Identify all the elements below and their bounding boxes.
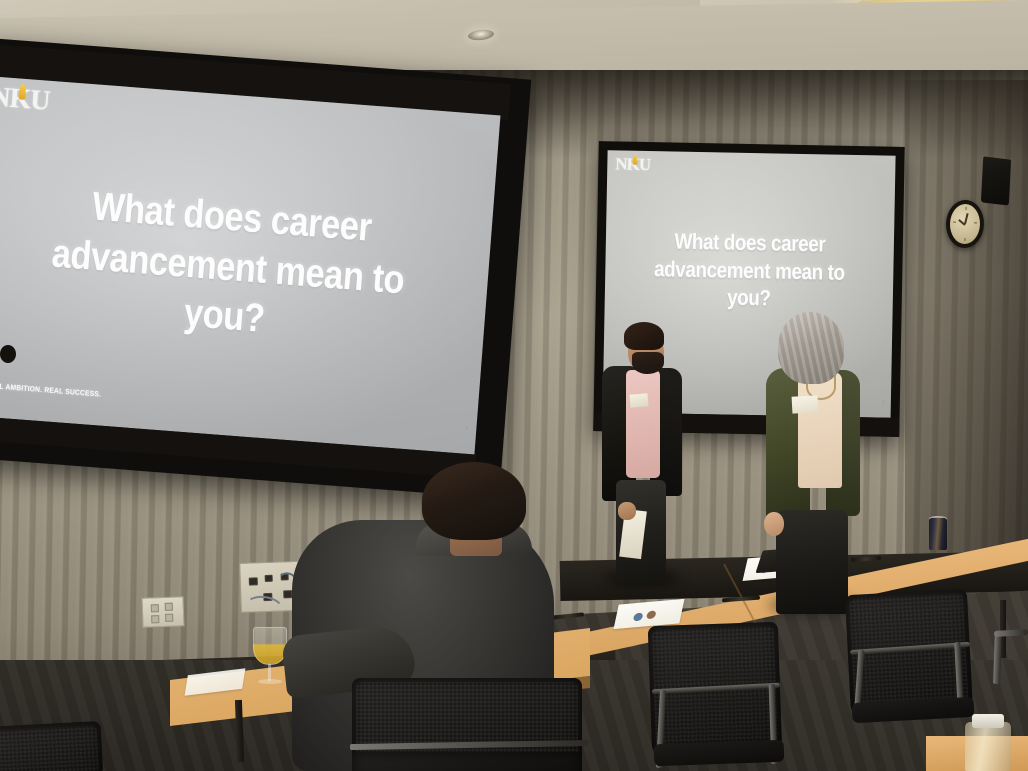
chair-seat[interactable] (654, 740, 785, 767)
hair (422, 462, 526, 540)
slide-title-line-1: What does career (633, 227, 867, 259)
data-jack-plate (141, 596, 184, 627)
name-badge (629, 393, 648, 408)
skirt (776, 510, 848, 614)
slide-title-line-2: advancement mean to (632, 254, 866, 286)
water-bottle-cap (972, 714, 1004, 728)
name-badge (792, 395, 819, 413)
hair (624, 322, 664, 350)
microphone-fixture-icon (0, 345, 16, 363)
water-bottle[interactable] (965, 722, 1011, 771)
presenter-male (602, 322, 686, 590)
office-chair[interactable] (0, 721, 103, 771)
dress-shirt (626, 370, 660, 478)
hand (764, 512, 784, 536)
main-projection-screen: NKU What does career advancement mean to… (0, 38, 531, 499)
main-slide-surface: NKU What does career advancement mean to… (0, 76, 500, 455)
hand (618, 502, 636, 520)
slide-title-line-3: you? (632, 282, 866, 314)
hair (778, 312, 844, 384)
wall-speaker-icon (981, 156, 1011, 205)
nku-flame-icon (632, 155, 637, 165)
wine-glass[interactable] (253, 627, 287, 665)
clock-face (949, 203, 980, 244)
office-chair[interactable] (352, 752, 582, 771)
slide-page-number: 5 (465, 426, 468, 432)
wine-glass-stem (268, 663, 271, 681)
conference-room-photo: NKU What does career advancement mean to… (0, 0, 1028, 771)
nku-logo: NKU (615, 156, 650, 172)
slide-title: What does career advancement mean to you… (632, 227, 867, 315)
slide-page-number: 5 (882, 400, 885, 406)
soda-can[interactable] (929, 518, 947, 550)
presenter-female (764, 312, 862, 612)
nku-logo: NKU (0, 84, 50, 114)
